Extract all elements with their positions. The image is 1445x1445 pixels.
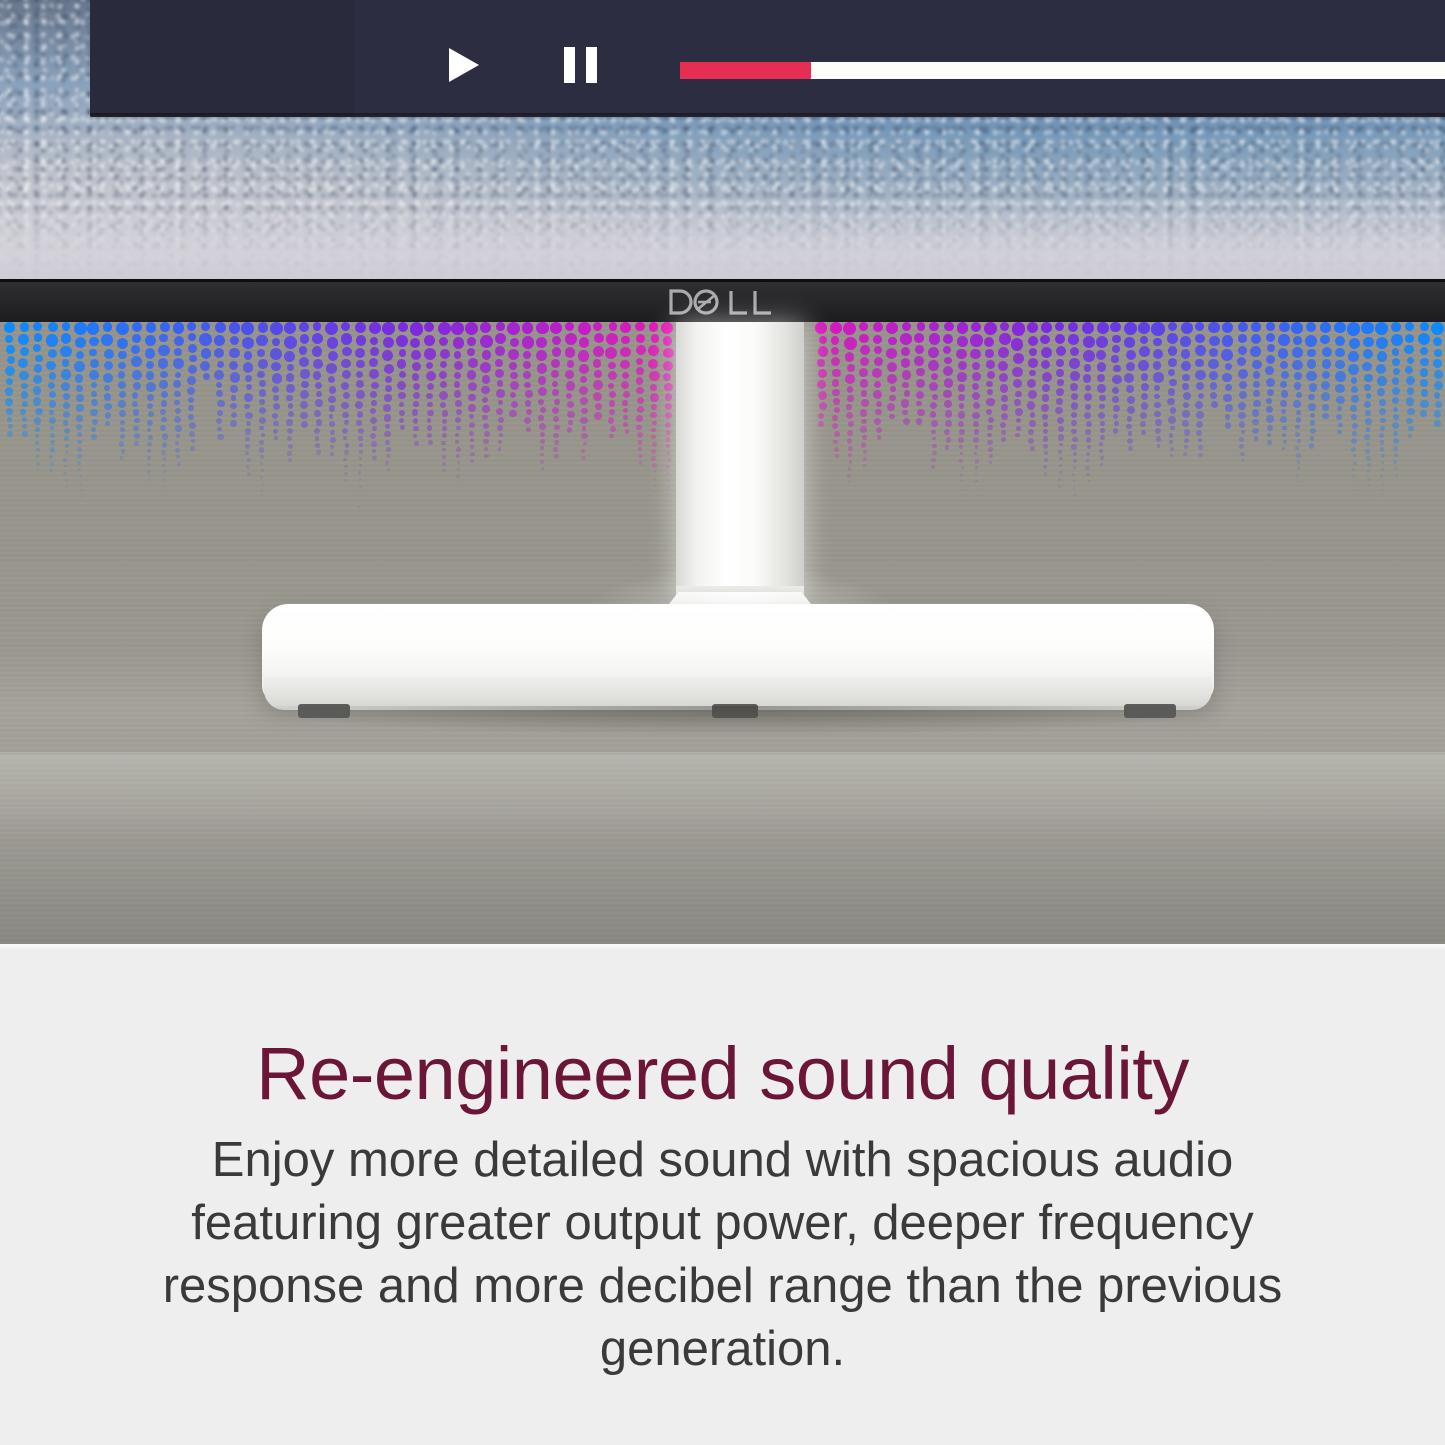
media-player-shadow xyxy=(90,113,1445,121)
pause-icon[interactable] xyxy=(564,47,598,83)
feature-headline: Re-engineered sound quality xyxy=(0,1034,1445,1114)
monitor-stand-column xyxy=(676,322,804,602)
play-icon[interactable] xyxy=(449,48,479,82)
feature-description: Enjoy more detailed sound with spacious … xyxy=(118,1129,1327,1381)
media-player-panel xyxy=(355,0,1445,117)
playback-progress-fill xyxy=(680,62,811,79)
product-photo xyxy=(0,0,1445,944)
screen-bottom-fade xyxy=(0,191,1445,281)
panel-divider xyxy=(0,944,1445,950)
caption-panel: Re-engineered sound quality Enjoy more d… xyxy=(0,944,1445,1445)
media-player-bar xyxy=(90,0,1445,117)
dell-logo-icon xyxy=(0,284,1445,320)
playback-progress-track[interactable] xyxy=(680,62,1445,79)
desk-surface xyxy=(0,754,1445,944)
product-feature-image: Re-engineered sound quality Enjoy more d… xyxy=(0,0,1445,1445)
stand-base-shadow xyxy=(250,706,1230,736)
